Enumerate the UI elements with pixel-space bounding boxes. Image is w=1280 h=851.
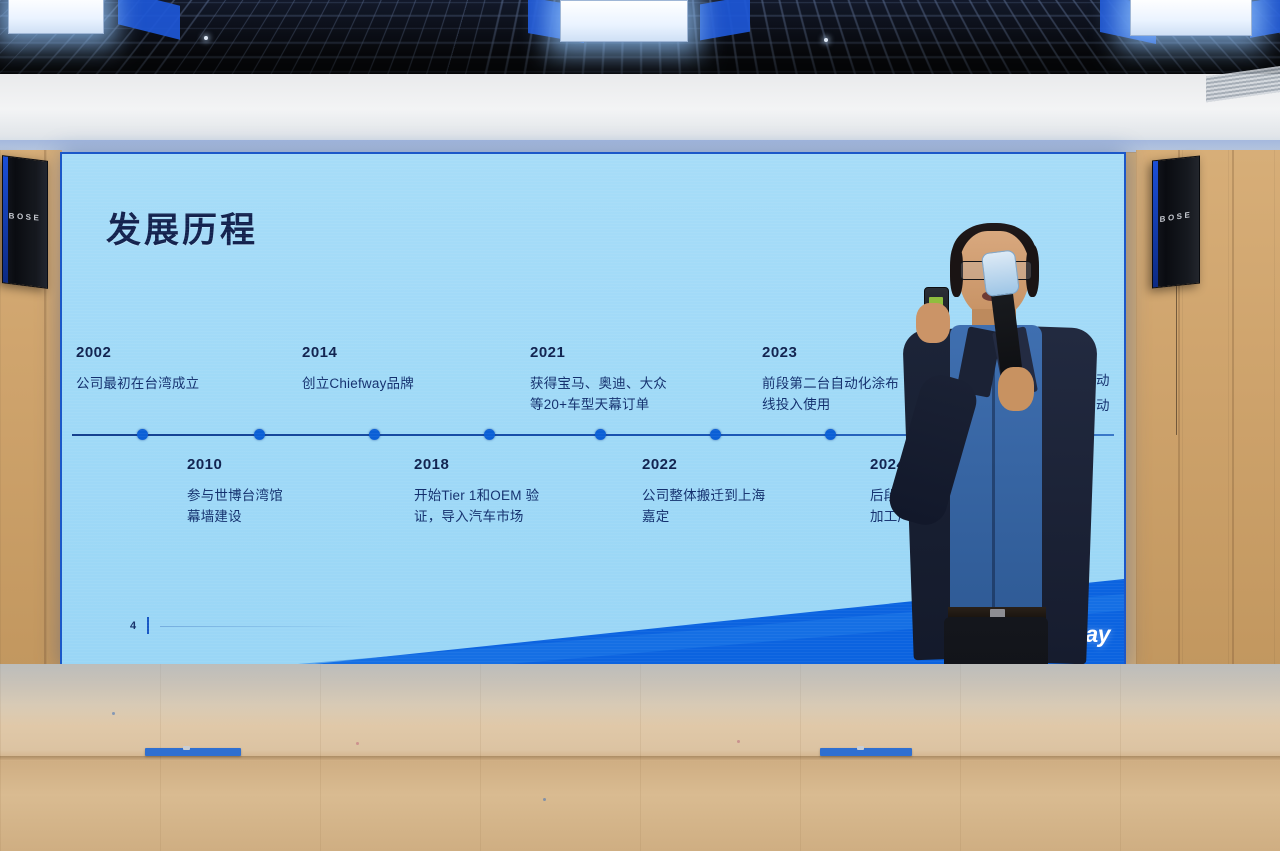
timeline-dot bbox=[254, 429, 265, 440]
speaker-brand-label: BOSE bbox=[1160, 210, 1193, 224]
ceiling-light-3 bbox=[1130, 0, 1252, 36]
floor-speck bbox=[543, 798, 546, 801]
page-number: 4 bbox=[130, 620, 136, 632]
wall-speaker-right: BOSE bbox=[1152, 155, 1200, 288]
slide-page-indicator: 4 bbox=[130, 617, 149, 634]
light-glow bbox=[1130, 0, 1252, 36]
presenter-hand-right bbox=[998, 367, 1034, 411]
timeline-event-text: 参与世博台湾馆幕墙建设 bbox=[187, 486, 387, 528]
ceiling-spotlight-dot-2 bbox=[824, 38, 828, 42]
speaker-blue-edge bbox=[1153, 161, 1158, 288]
timeline-event-year: 2022 bbox=[642, 456, 842, 473]
floor-marker-left bbox=[145, 748, 241, 756]
timeline-event-text: 公司最初在台湾成立 bbox=[76, 374, 276, 395]
timeline-dot bbox=[825, 429, 836, 440]
floor-screen-reflection bbox=[0, 664, 1280, 726]
stage-front-edge bbox=[0, 756, 1280, 760]
wall-speaker-left: BOSE bbox=[2, 155, 48, 289]
floor-marker-right bbox=[820, 748, 912, 756]
timeline-event-text: 开始Tier 1和OEM 验证，导入汽车市场 bbox=[414, 486, 614, 528]
light-glow bbox=[8, 0, 104, 34]
slide-title: 发展历程 bbox=[106, 202, 258, 253]
timeline-event-text: 获得宝马、奥迪、大众等20+车型天幕订单 bbox=[530, 374, 740, 416]
timeline-event-2014: 2014 创立Chiefway品牌 bbox=[302, 344, 502, 395]
floor-speck bbox=[737, 740, 740, 743]
page-rule-line bbox=[160, 626, 370, 627]
ceiling-light-1 bbox=[8, 0, 104, 34]
timeline-event-2002: 2002 公司最初在台湾成立 bbox=[76, 344, 276, 395]
timeline-event-year: 2014 bbox=[302, 344, 502, 361]
timeline-dot bbox=[137, 429, 148, 440]
speaker-cable bbox=[1176, 285, 1177, 435]
microphone-head bbox=[981, 249, 1020, 297]
floor-speck bbox=[112, 712, 115, 715]
timeline-event-2010: 2010 参与世博台湾馆幕墙建设 bbox=[187, 456, 387, 528]
timeline-event-2021: 2021 获得宝马、奥迪、大众等20+车型天幕订单 bbox=[530, 344, 740, 416]
page-divider-bar bbox=[147, 617, 149, 634]
timeline-event-text: 公司整体搬迁到上海嘉定 bbox=[642, 486, 842, 528]
speaker-blue-edge bbox=[3, 156, 8, 283]
floor-speck bbox=[356, 742, 359, 745]
timeline-event-text: 创立Chiefway品牌 bbox=[302, 374, 502, 395]
timeline-event-year: 2018 bbox=[414, 456, 614, 473]
presentation-room-scene: BOSE BOSE 发展历程 2002 公司最初在台湾成立 bbox=[0, 0, 1280, 851]
light-glow bbox=[560, 0, 688, 42]
timeline-event-year: 2002 bbox=[76, 344, 276, 361]
timeline-dot bbox=[484, 429, 495, 440]
ceiling-light-2 bbox=[560, 0, 688, 42]
speaker-brand-label: BOSE bbox=[9, 211, 42, 222]
timeline-dot bbox=[369, 429, 380, 440]
wall-seam bbox=[1232, 150, 1234, 670]
ceiling-spotlight-dot-1 bbox=[204, 36, 208, 40]
timeline-dot bbox=[710, 429, 721, 440]
timeline-dot bbox=[595, 429, 606, 440]
timeline-event-2022: 2022 公司整体搬迁到上海嘉定 bbox=[642, 456, 842, 528]
timeline-event-year: 2010 bbox=[187, 456, 387, 473]
presenter-hand-left bbox=[916, 303, 950, 343]
timeline-event-year: 2021 bbox=[530, 344, 740, 361]
light-wing-far-right bbox=[1250, 0, 1280, 38]
timeline-event-2018: 2018 开始Tier 1和OEM 验证，导入汽车市场 bbox=[414, 456, 614, 528]
